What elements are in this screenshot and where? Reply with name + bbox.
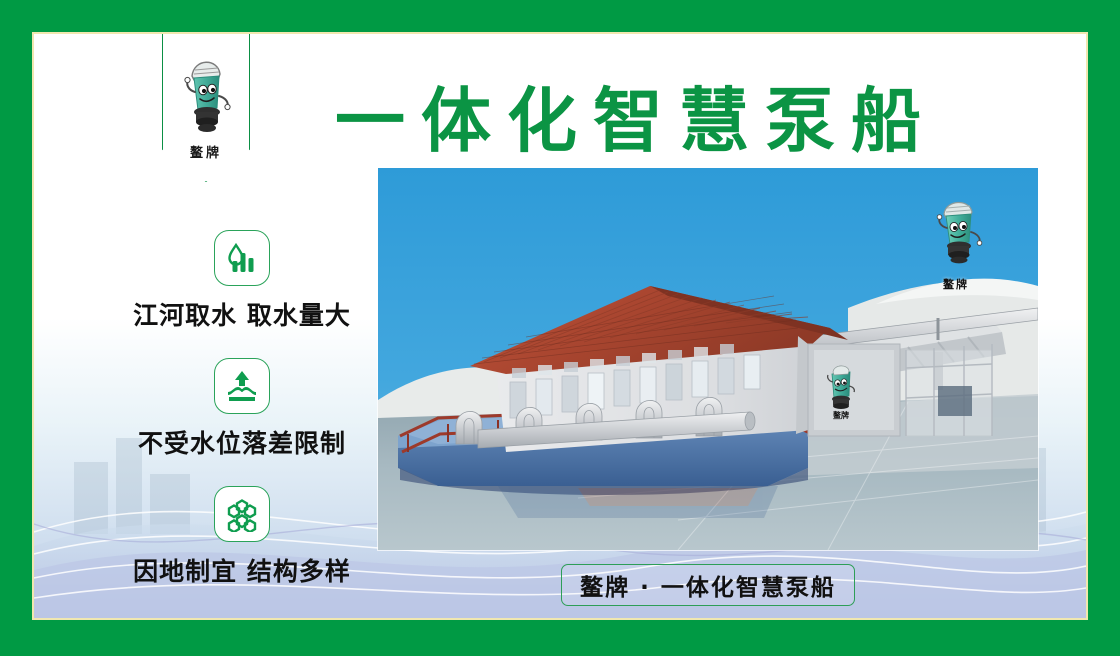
page-title: 一体化智慧泵船 xyxy=(286,80,986,162)
product-render-photo: 鳌牌 xyxy=(378,168,1038,550)
poster-root: 鳌牌 一体化智慧泵船 江河取水 取水量大 xyxy=(0,0,1120,656)
photo-caption-box: 鳌牌 · 一体化智慧泵船 xyxy=(561,564,855,606)
feature-item-structure: 因地制宜 结构多样 xyxy=(92,486,392,588)
feature-item-water-level: 不受水位落差限制 xyxy=(92,358,392,460)
photo-mascot-label: 鳌牌 xyxy=(920,276,992,292)
feature-label: 不受水位落差限制 xyxy=(92,424,392,460)
svg-text:鳌牌: 鳌牌 xyxy=(833,410,849,420)
pump-mascot-icon xyxy=(174,50,238,142)
poster-inner-frame: 鳌牌 一体化智慧泵船 江河取水 取水量大 xyxy=(32,32,1088,620)
photo-mascot: 鳌牌 xyxy=(920,194,992,292)
pump-mascot-icon xyxy=(920,194,992,272)
feature-list: 江河取水 取水量大 不受水位落差限制 xyxy=(92,230,392,614)
brand-banner-label: 鳌牌 xyxy=(162,142,250,161)
brand-banner: 鳌牌 xyxy=(162,34,250,182)
feature-label: 江河取水 取水量大 xyxy=(92,296,392,332)
water-drop-bar-chart-icon xyxy=(214,230,270,286)
feature-label: 因地制宜 结构多样 xyxy=(92,552,392,588)
photo-caption-text: 鳌牌 · 一体化智慧泵船 xyxy=(580,568,836,602)
honeycomb-hexagons-icon xyxy=(214,486,270,542)
feature-item-water-intake: 江河取水 取水量大 xyxy=(92,230,392,332)
arrow-up-water-level-icon xyxy=(214,358,270,414)
